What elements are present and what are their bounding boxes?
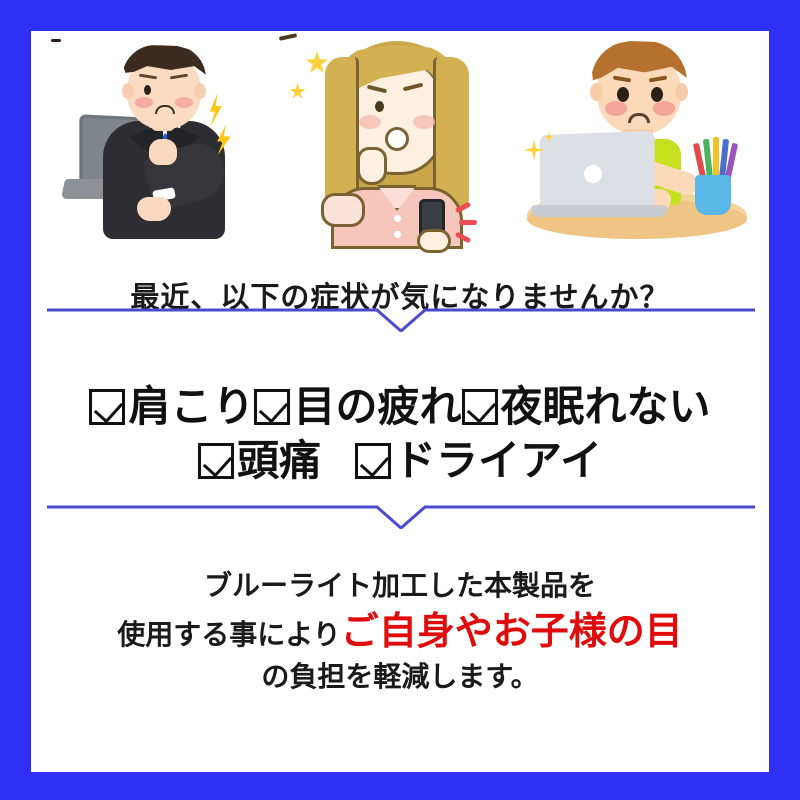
cheek-left — [135, 97, 153, 108]
cheek-right — [175, 97, 193, 108]
checklist-row: 肩こり 目の疲れ 夜眠れない — [31, 386, 769, 428]
cheek-left — [605, 101, 627, 116]
ear-left — [590, 83, 603, 101]
checklist-item-label: 目の疲れ — [293, 386, 461, 428]
eye-right-squint — [279, 33, 297, 41]
checklist-item-me-no-tsukare[interactable]: 目の疲れ — [254, 386, 461, 428]
checklist-item-yoru-nemurenai[interactable]: 夜眠れない — [462, 386, 711, 428]
divider-line — [47, 507, 755, 528]
ear-left — [122, 83, 134, 99]
illustration-band — [31, 31, 769, 266]
checklist-item-label: ドライアイ — [394, 440, 602, 482]
checklist-item-label: 夜眠れない — [501, 386, 711, 428]
hand-holding-phone — [417, 229, 451, 253]
checkbox-checked-icon[interactable] — [462, 389, 498, 425]
open-mouth — [385, 127, 409, 151]
star-icon — [289, 83, 306, 100]
eye-left — [144, 85, 151, 95]
divider-with-notch-top — [47, 306, 755, 332]
illustration-boy-laptop — [511, 39, 761, 265]
laptop-logo — [584, 165, 602, 183]
lightning-bolt-icon — [207, 93, 224, 127]
promo-highlight: ご自身やお子様の目 — [341, 611, 683, 653]
eye-right — [651, 87, 663, 102]
symptom-checklist: 肩こり 目の疲れ 夜眠れない 頭痛 ドライアイ — [31, 386, 769, 494]
illustration-businessman-shoulder-pain — [51, 39, 281, 264]
eye-left — [375, 101, 384, 112]
cheek-right — [413, 115, 435, 129]
promo-line-1: ブルーライト加工した本製品を — [31, 567, 769, 606]
frowning-mouth — [155, 105, 175, 114]
promo-line-2-prefix: 使用する事により — [117, 619, 340, 650]
impact-line — [459, 220, 477, 225]
arm-left — [321, 193, 365, 227]
promo-line-2: 使用する事によりご自身やお子様の目 — [31, 606, 769, 658]
hand-near-face — [357, 147, 387, 185]
checkbox-checked-icon[interactable] — [198, 443, 234, 479]
button — [394, 215, 401, 222]
poster-root: 最近、以下の症状が気になりませんか？ 肩こり 目の疲れ 夜眠れない — [0, 0, 800, 800]
checklist-item-zutsuu[interactable]: 頭痛 — [198, 440, 321, 482]
divider-line — [47, 310, 755, 331]
checkbox-checked-icon[interactable] — [355, 443, 391, 479]
divider-with-notch-bottom — [47, 503, 755, 529]
promo-line-3: の負担を軽減します。 — [31, 658, 769, 697]
eye-left — [617, 87, 629, 102]
pencil-cup — [695, 175, 731, 215]
promo-text-block: ブルーライト加工した本製品を 使用する事によりご自身やお子様の目 の負担を軽減し… — [31, 567, 769, 697]
pencil-icon — [713, 137, 719, 177]
cheek-left — [359, 115, 381, 129]
laptop-base-icon — [531, 205, 667, 217]
hand-on-shoulder — [149, 139, 177, 165]
checklist-item-kata-kori[interactable]: 肩こり — [89, 386, 254, 428]
hand-on-keyboard — [137, 197, 171, 221]
ear-right — [194, 83, 206, 99]
checklist-item-dry-eye[interactable]: ドライアイ — [355, 440, 602, 482]
illustration-woman-smartphone-eyestrain — [279, 35, 515, 265]
ear-right — [675, 83, 688, 101]
cheek-right — [653, 101, 675, 116]
white-panel: 最近、以下の症状が気になりませんか？ 肩こり 目の疲れ 夜眠れない — [31, 31, 769, 772]
checkbox-checked-icon[interactable] — [89, 389, 125, 425]
checkbox-checked-icon[interactable] — [254, 389, 290, 425]
checklist-item-label: 肩こり — [128, 386, 254, 428]
button — [394, 231, 401, 238]
checklist-item-label: 頭痛 — [237, 440, 321, 482]
eye-right-squint — [51, 39, 61, 42]
checklist-row: 頭痛 ドライアイ — [31, 440, 769, 482]
